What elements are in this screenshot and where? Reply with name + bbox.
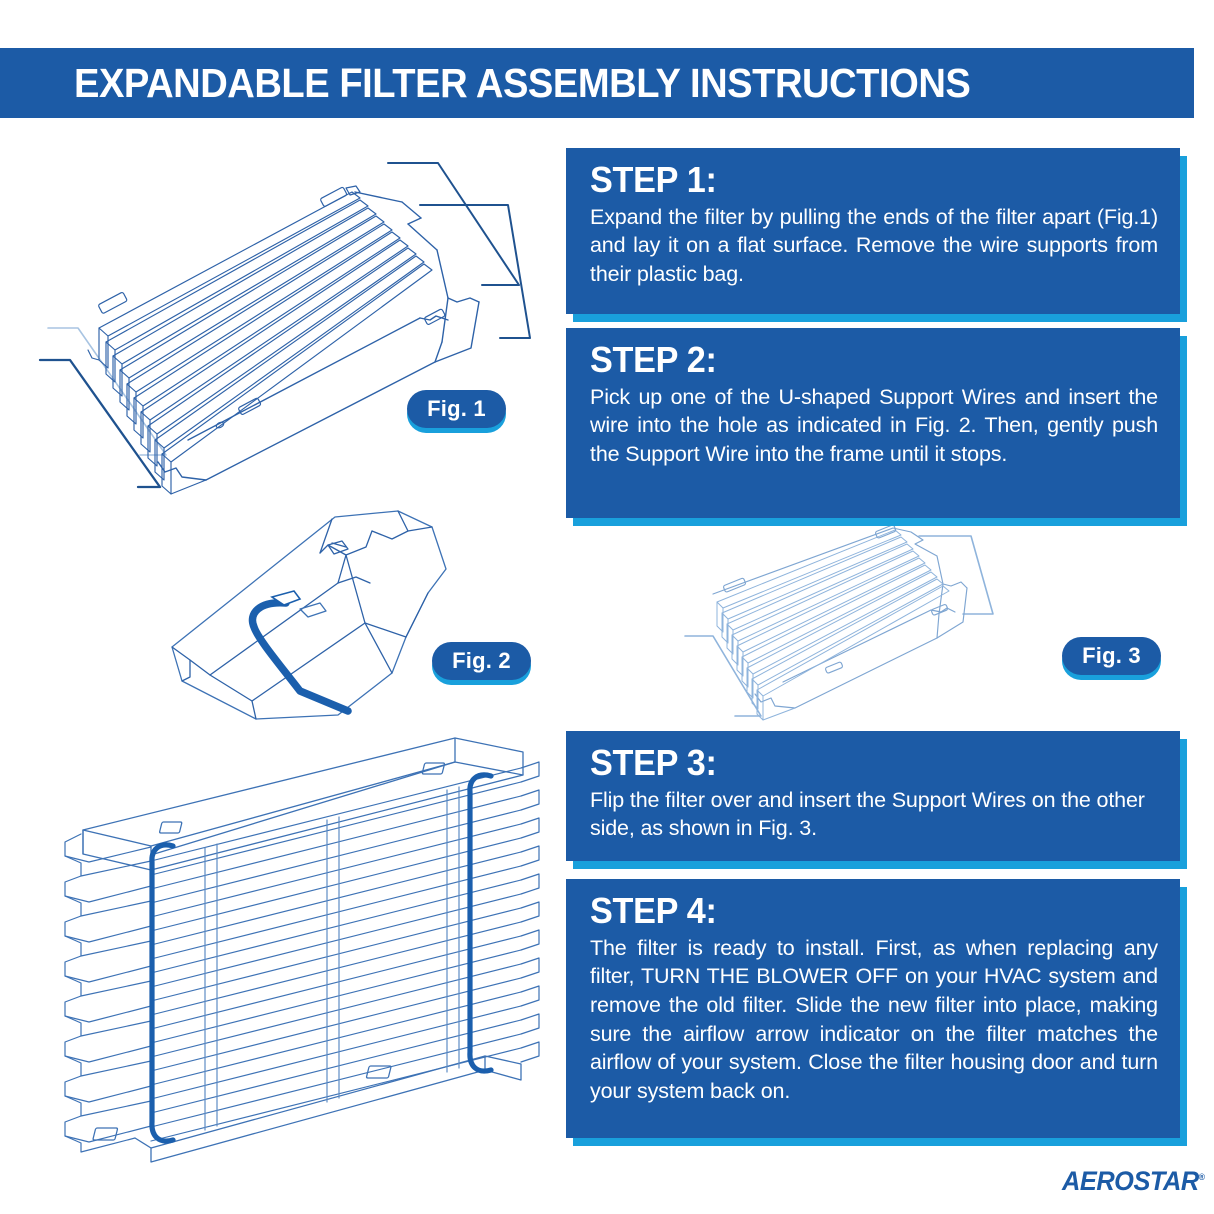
figure-1-label: Fig. 1 [407,390,506,428]
trademark-symbol: ® [1199,1172,1205,1182]
step-2-box: STEP 2: Pick up one of the U-shaped Supp… [566,328,1180,518]
step-4-body: The filter is ready to install. First, a… [590,934,1158,1106]
step-2-body: Pick up one of the U-shaped Support Wire… [590,383,1158,469]
instruction-sheet: EXPANDABLE FILTER ASSEMBLY INSTRUCTIONS [0,0,1214,1214]
header-bar: EXPANDABLE FILTER ASSEMBLY INSTRUCTIONS [0,48,1194,118]
figure-3-label: Fig. 3 [1062,637,1161,675]
step-1-body: Expand the filter by pulling the ends of… [590,203,1158,289]
step-3-box: STEP 3: Flip the filter over and insert … [566,731,1180,861]
step-1-title: STEP 1: [590,162,1130,199]
figure-3-illustration [675,518,1095,723]
step-2-title: STEP 2: [590,342,1130,379]
figure-2-label: Fig. 2 [432,642,531,680]
step4-illustration [55,730,545,1170]
step-4-title: STEP 4: [590,893,1130,930]
step-3-title: STEP 3: [590,745,1130,782]
step-4-box: STEP 4: The filter is ready to install. … [566,879,1180,1138]
figure-2-illustration [160,505,550,730]
step-1-box: STEP 1: Expand the filter by pulling the… [566,148,1180,314]
aerostar-logo-text: AEROSTAR [1062,1166,1199,1196]
aerostar-logo: AEROSTAR® [1062,1166,1205,1197]
step-3-body: Flip the filter over and insert the Supp… [590,786,1158,843]
page-title: EXPANDABLE FILTER ASSEMBLY INSTRUCTIONS [74,60,970,107]
figure-1-illustration [30,150,550,510]
